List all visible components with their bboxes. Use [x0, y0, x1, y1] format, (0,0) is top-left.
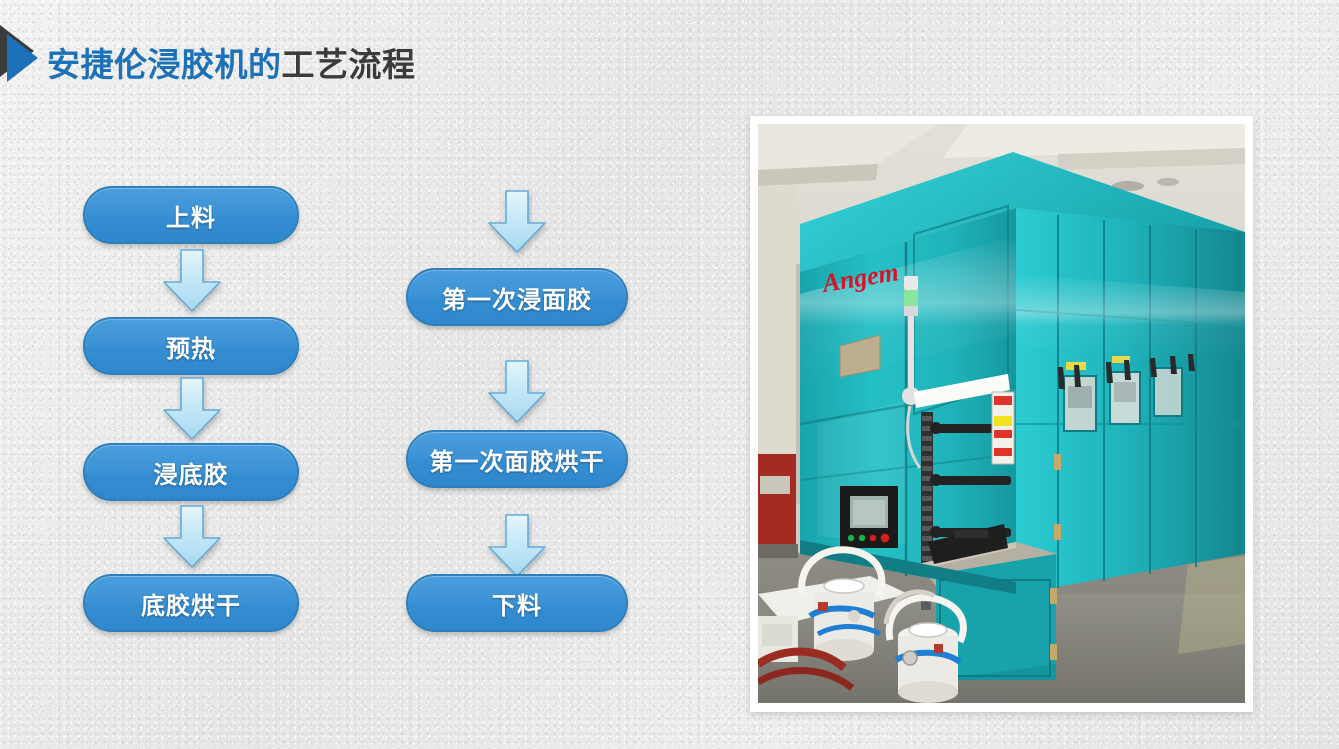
flow-node-label: 浸底胶: [154, 455, 229, 490]
flow-arrow-6-down-arrow-icon: [486, 514, 548, 578]
flow-node-label: 第一次浸面胶: [442, 280, 592, 315]
flow-node-dijiaohonggan[interactable]: 底胶烘干: [83, 574, 299, 632]
flow-node-diyici-mianjiao-honggan[interactable]: 第一次面胶烘干: [406, 430, 628, 488]
machine-photo-frame: Angem: [750, 116, 1253, 712]
flow-node-label: 预热: [166, 329, 216, 364]
flow-node-xialiao[interactable]: 下料: [406, 574, 628, 632]
machine-photo: Angem: [758, 124, 1245, 703]
flow-arrow-1-down-arrow-icon: [161, 249, 223, 313]
flow-node-yure[interactable]: 预热: [83, 317, 299, 375]
flow-node-shangliao[interactable]: 上料: [83, 186, 299, 244]
process-flowchart: 上料 预热 浸底胶 底胶烘干: [0, 0, 740, 749]
flow-node-label: 底胶烘干: [141, 586, 241, 621]
flow-arrow-5-down-arrow-icon: [486, 360, 548, 424]
flow-node-jindijiao[interactable]: 浸底胶: [83, 443, 299, 501]
flow-node-diyici-jinmianjiao[interactable]: 第一次浸面胶: [406, 268, 628, 326]
flow-node-label: 上料: [166, 198, 216, 233]
flow-node-label: 下料: [492, 586, 542, 621]
flow-arrow-3-down-arrow-icon: [161, 505, 223, 569]
flow-arrow-2-down-arrow-icon: [161, 377, 223, 441]
flow-arrow-4-down-arrow-icon: [486, 190, 548, 254]
flow-node-label: 第一次面胶烘干: [430, 442, 605, 477]
